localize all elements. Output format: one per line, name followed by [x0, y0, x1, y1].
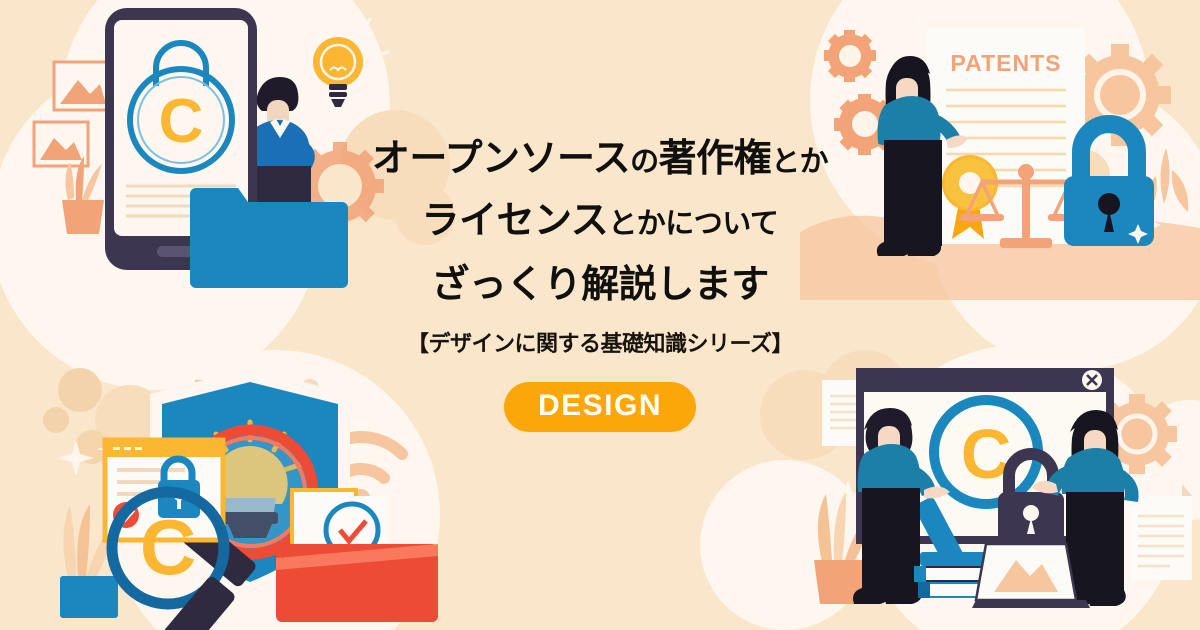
- title-line-1-part-b: の: [630, 146, 659, 178]
- illustration-top-right: PATENTS: [800, 0, 1200, 300]
- title-line-1: オープンソースの著作権とか: [372, 140, 828, 178]
- title-line-2: ライセンスとかについて: [422, 202, 779, 240]
- picture-frame-icon-2: [34, 122, 88, 166]
- illustration-bottom-left: C: [20, 330, 440, 630]
- illustration-top-left: C: [20, 0, 420, 300]
- title-line-3: ざっくり解説します: [431, 266, 769, 304]
- folder-blue: [190, 188, 348, 288]
- title-line-2-part-a: ライセンス: [422, 200, 609, 242]
- padlock-blue: [1064, 124, 1154, 246]
- title-line-1-part-a: オープンソース: [372, 138, 630, 180]
- copyright-magnifier: C: [112, 492, 237, 630]
- close-icon[interactable]: [1082, 370, 1102, 390]
- title-line-2-part-b: とかについて: [608, 208, 778, 240]
- potted-plant: [62, 156, 104, 234]
- document-sheet-2: [1130, 484, 1192, 580]
- lightbulb-icon: [288, 6, 388, 107]
- poster-canvas: C: [0, 0, 1200, 630]
- letter-C: C: [140, 503, 196, 591]
- illustration-bottom-right: C: [800, 330, 1200, 630]
- letter-C: C: [159, 87, 204, 156]
- picture-frame-icon: [54, 62, 112, 110]
- dot-decoration: [43, 368, 102, 433]
- gear-icon-1: [824, 30, 876, 82]
- title-line-1-part-d: とか: [771, 146, 828, 178]
- folder-red: [276, 544, 438, 622]
- subtitle: 【デザインに関する基礎知識シリーズ】: [407, 326, 793, 358]
- title-line-1-part-c: 著作権: [659, 138, 772, 180]
- design-badge[interactable]: DESIGN: [504, 382, 696, 432]
- document-title: PATENTS: [951, 50, 1062, 76]
